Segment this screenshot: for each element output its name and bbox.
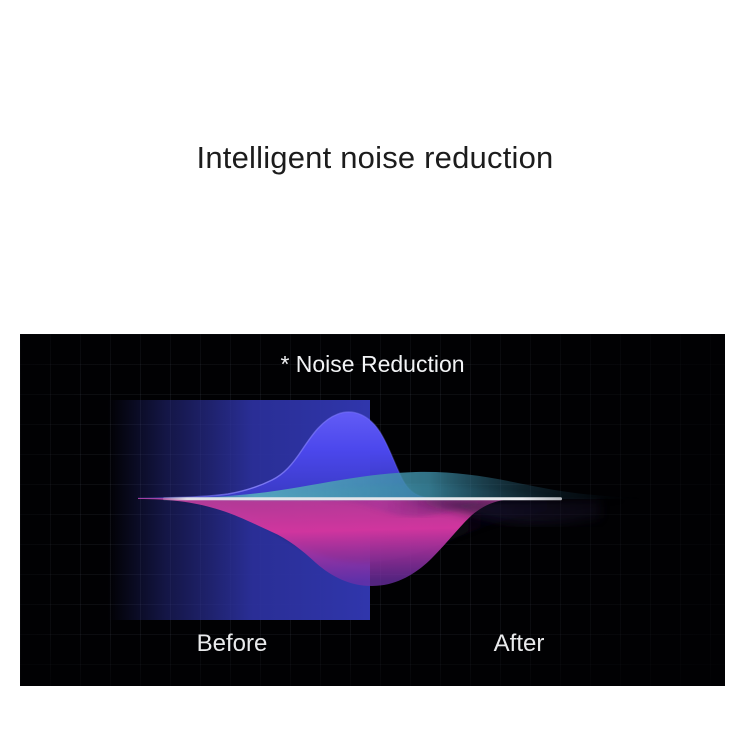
label-before: Before [157, 630, 307, 658]
waveform-visualization [20, 334, 725, 686]
noise-reduction-demo-panel: * Noise Reduction Before After [20, 334, 725, 686]
panel-caption: * Noise Reduction [20, 351, 725, 378]
zero-axis-line [163, 497, 562, 500]
page-title: Intelligent noise reduction [0, 140, 750, 176]
waveform-svg [20, 334, 725, 686]
label-after: After [444, 630, 594, 658]
